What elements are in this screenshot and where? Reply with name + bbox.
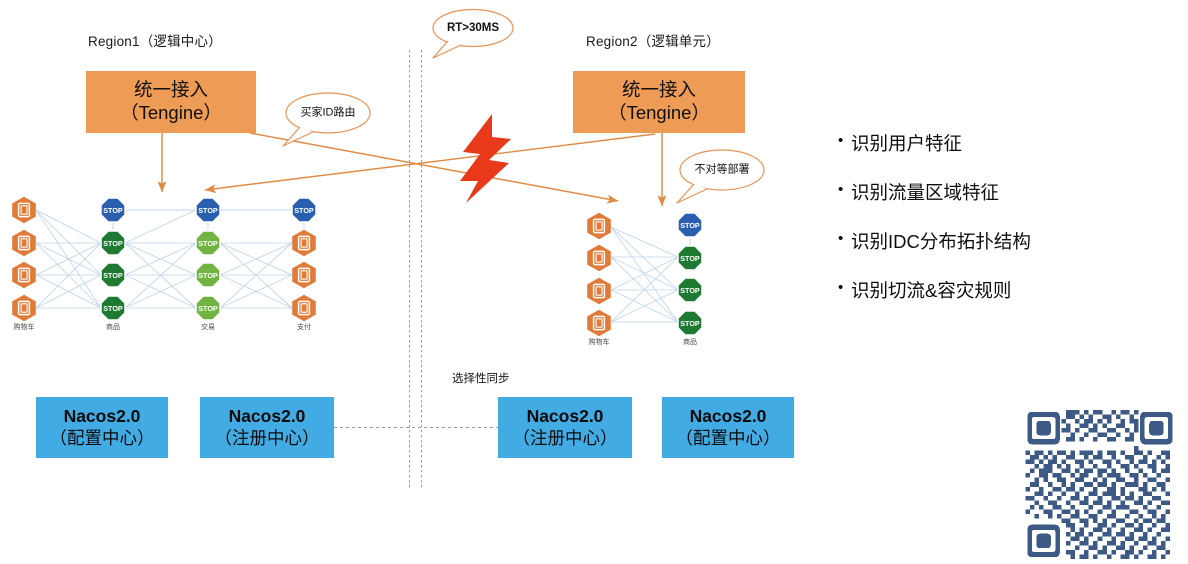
callout-asymmetric-label: 不对等部署 [693,163,751,176]
region2-nacos-registry-line1: Nacos2.0 [527,406,604,427]
region1-gateway-line2: （Tengine） [120,102,222,125]
region1-nacos-config-box[interactable]: Nacos2.0 （配置中心） [36,397,168,458]
region2-gateway-line1: 统一接入 [622,79,696,102]
network-latency-lightning-icon [460,114,511,203]
selective-sync-label: 选择性同步 [452,370,510,386]
region2-link-mesh [611,227,690,322]
diagram-canvas: STOP [0,0,1188,559]
region2-cluster-nodes [587,213,702,336]
bullet-label: 识别IDC分布拓扑结构 [851,230,1138,253]
bullet-item: • 识别流量区域特征 [838,181,1138,204]
routing-arrows [162,133,662,206]
callout-buyer-route-label: 买家ID路由 [299,106,357,119]
bullet-dot-icon: • [838,181,851,200]
bullet-label: 识别用户特征 [851,132,1138,155]
bullet-dot-icon: • [838,132,851,151]
region2-nacos-config-box[interactable]: Nacos2.0 （配置中心） [662,397,794,458]
region2-nacos-config-line1: Nacos2.0 [690,406,767,427]
region1-nacos-config-line2: （配置中心） [50,428,155,449]
region2-gateway-line2: （Tengine） [608,102,710,125]
bullet-dot-icon: • [838,279,851,298]
region1-nacos-registry-line2: （注册中心） [215,428,320,449]
region2-nacos-registry-line2: （注册中心） [513,428,618,449]
bullet-item: • 识别切流&容灾规则 [838,279,1138,302]
region1-nacos-registry-line1: Nacos2.0 [229,406,306,427]
bullet-label: 识别切流&容灾规则 [851,279,1138,302]
region1-column-label-transaction: 交易 [201,322,215,332]
region-divider [410,50,422,490]
region2-column-label-cart: 购物车 [589,337,610,347]
region1-title: Region1（逻辑中心） [88,30,222,50]
bullet-dot-icon: • [838,230,851,249]
region1-column-label-cart: 购物车 [14,322,35,332]
region1-gateway-line1: 统一接入 [134,79,208,102]
qr-code-image [1015,410,1185,559]
callout-rt-label: RT>30MS [428,21,518,35]
qr-code[interactable] [1015,410,1185,559]
region1-gateway-tengine-box[interactable]: 统一接入 （Tengine） [86,71,256,133]
region1-cluster-nodes [12,197,316,321]
region1-nacos-registry-box[interactable]: Nacos2.0 （注册中心） [200,397,334,458]
bullet-label: 识别流量区域特征 [851,181,1138,204]
region2-nacos-registry-box[interactable]: Nacos2.0 （注册中心） [498,397,632,458]
region1-nacos-config-line1: Nacos2.0 [64,406,141,427]
region2-nacos-config-line2: （配置中心） [676,428,781,449]
capability-bullet-list: • 识别用户特征 • 识别流量区域特征 • 识别IDC分布拓扑结构 • 识别切流… [838,132,1138,329]
region2-column-label-product: 商品 [683,337,697,347]
region1-column-label-payment: 支付 [297,322,311,332]
region1-column-label-product: 商品 [106,322,120,332]
region2-gateway-tengine-box[interactable]: 统一接入 （Tengine） [573,71,745,133]
region1-link-mesh [36,210,304,308]
bullet-item: • 识别IDC分布拓扑结构 [838,230,1138,253]
bullet-item: • 识别用户特征 [838,132,1138,155]
region2-title: Region2（逻辑单元） [586,30,720,50]
